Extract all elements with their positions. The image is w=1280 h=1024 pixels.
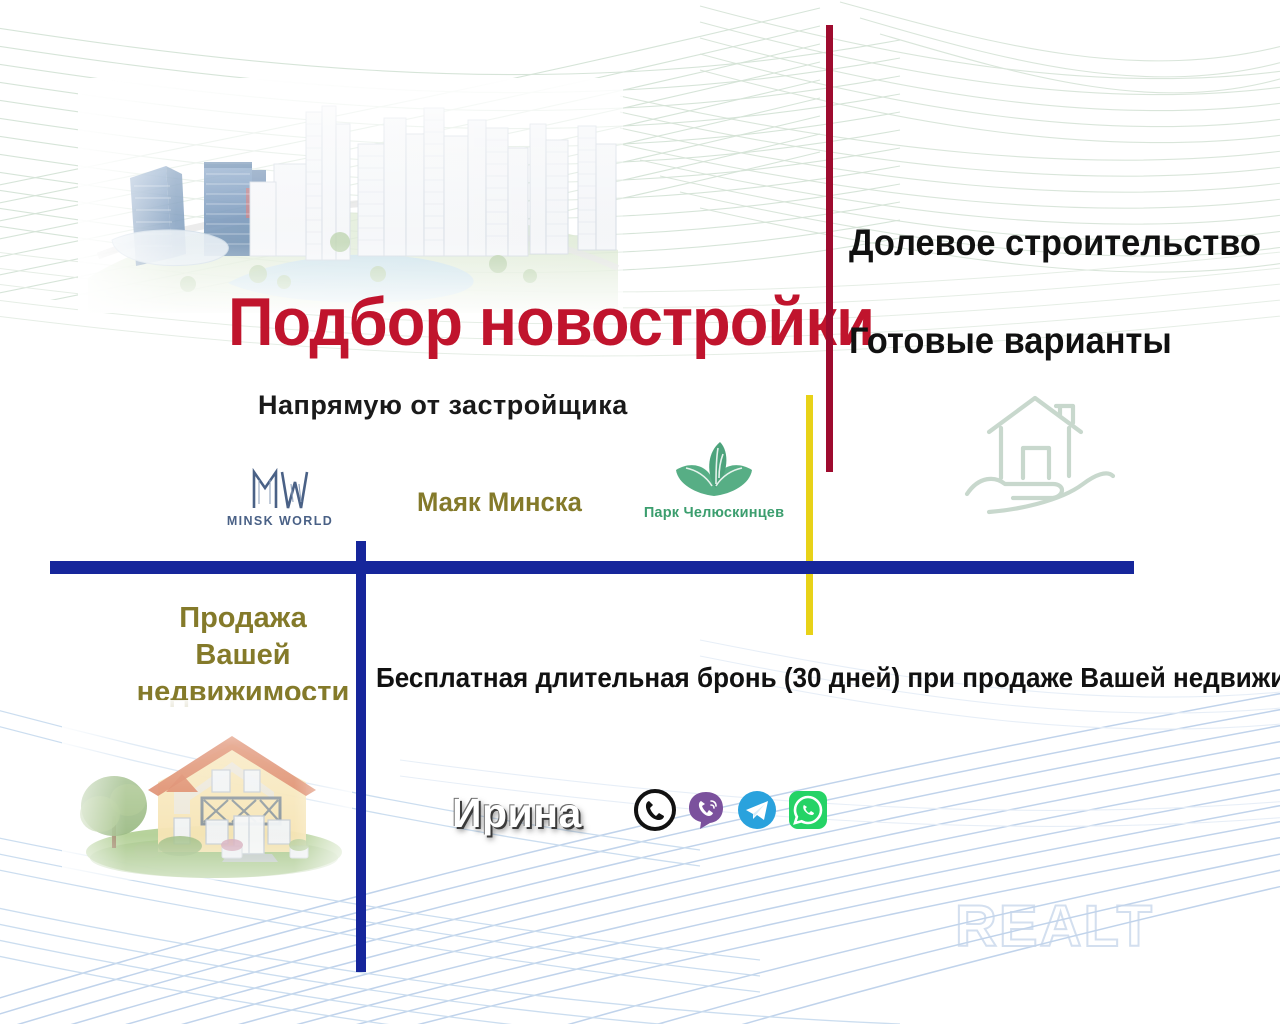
park-leaf-mark [666, 440, 762, 502]
whatsapp-glyph [787, 789, 829, 831]
cityscape-illustration [78, 78, 623, 313]
contact-icons [634, 789, 829, 831]
logo-park-chelyuskintsev: Парк Челюскинцев [640, 440, 788, 521]
divider-red-vertical [826, 25, 833, 472]
divider-blue-vertical [356, 541, 366, 972]
realt-watermark: REALT [955, 893, 1154, 960]
divider-blue-horizontal [50, 561, 1134, 574]
agent-name: Ирина [452, 790, 582, 837]
logo-mayak-minska: Маяк Минска [417, 487, 582, 518]
phone-icon[interactable] [634, 789, 676, 831]
free-booking-banner: Бесплатная длительная бронь (30 дней) пр… [376, 662, 1280, 694]
divider-yellow-vertical [806, 395, 813, 635]
viber-icon[interactable] [685, 789, 727, 831]
cottage-house-image [62, 700, 352, 880]
park-caption: Парк Челюскинцев [640, 505, 788, 521]
viber-glyph [685, 789, 727, 831]
telegram-icon[interactable] [736, 789, 778, 831]
subtitle: Напрямую от застройщика [258, 390, 628, 421]
telegram-glyph [736, 789, 778, 831]
cityscape-image [78, 78, 623, 313]
house-in-hand-glyph [955, 392, 1120, 532]
minsk-world-monogram [249, 466, 311, 512]
offer-line-dolevoe: Долевое строительство [849, 222, 1261, 264]
house-in-hand-icon [955, 392, 1120, 532]
page-title: Подбор новостройки [228, 288, 874, 356]
logo-minsk-world: MINSK WORLD [224, 466, 336, 528]
cottage-illustration [62, 700, 352, 880]
sell-property-title: Продажа Вашей недвижимости [132, 600, 354, 711]
minsk-world-caption: MINSK WORLD [224, 514, 336, 528]
advertisement-poster: Подбор новостройки Напрямую от застройщи… [0, 0, 1280, 1024]
phone-glyph [634, 789, 676, 831]
offer-line-gotovye: Готовые варианты [849, 320, 1172, 362]
whatsapp-icon[interactable] [787, 789, 829, 831]
